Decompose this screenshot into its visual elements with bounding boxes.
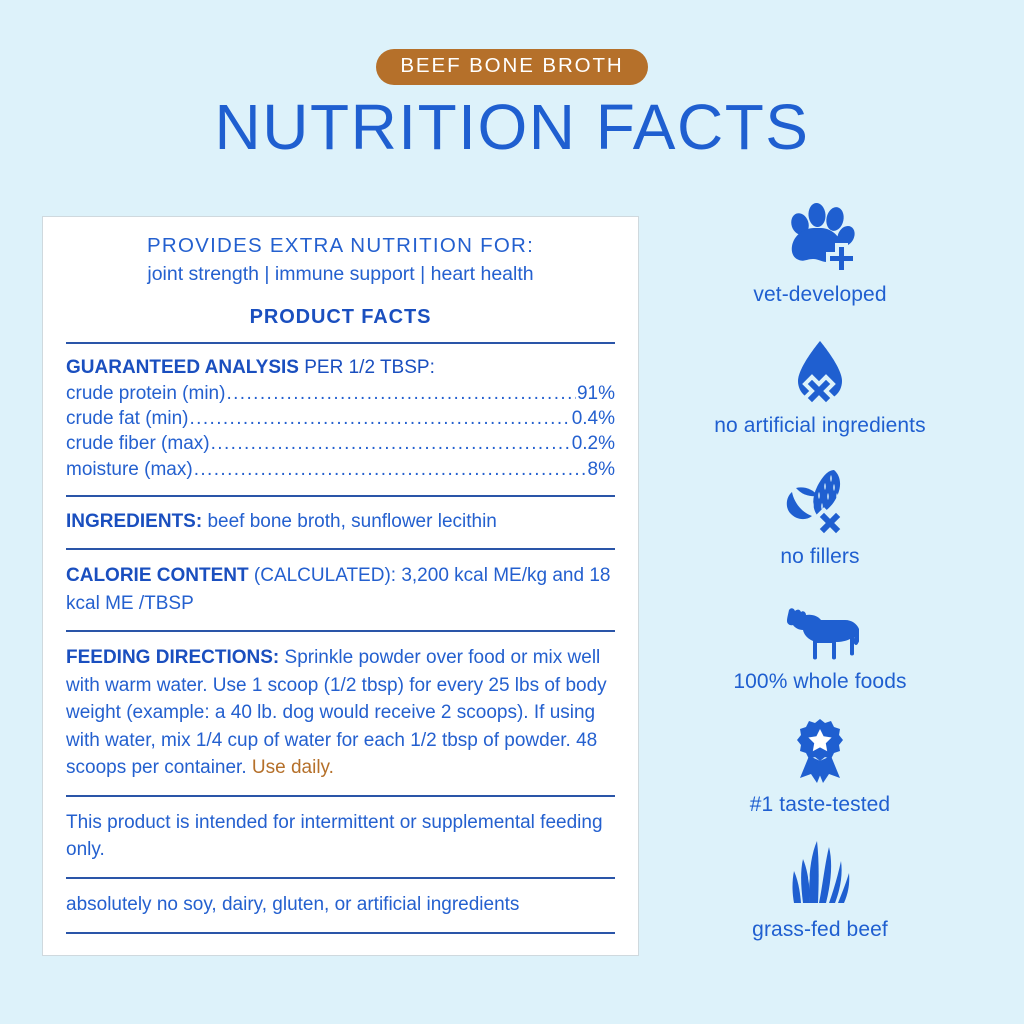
provides-heading: PROVIDES EXTRA NUTRITION FOR: [66, 234, 615, 258]
intermittent-notice-section: This product is intended for intermitten… [66, 809, 615, 864]
leader-dots: ........................................… [194, 457, 587, 482]
nutrition-facts-card: PROVIDES EXTRA NUTRITION FOR: joint stre… [42, 216, 639, 956]
ingredients-value: beef bone broth, sunflower lecithin [207, 511, 496, 532]
divider [66, 495, 615, 497]
benefit-no-fillers: no fillers [660, 462, 980, 569]
nutrient-name: crude fiber (max) [66, 431, 210, 456]
nutrient-name: crude protein (min) [66, 381, 225, 406]
guaranteed-analysis-list: crude protein (min) ....................… [66, 381, 615, 482]
table-row: moisture (max) .........................… [66, 457, 615, 482]
nutrient-name: crude fat (min) [66, 406, 188, 431]
guaranteed-analysis-label: GUARANTEED ANALYSIS [66, 357, 299, 378]
leader-dots: ........................................… [226, 381, 576, 406]
product-badge: BEEF BONE BROTH [376, 49, 647, 85]
award-ribbon-icon [660, 710, 980, 784]
use-daily-accent: Use daily. [252, 757, 334, 778]
guaranteed-analysis-serving: PER 1/2 TBSP: [304, 357, 435, 378]
benefit-label: 100% whole foods [660, 670, 980, 694]
table-row: crude fiber (max) ......................… [66, 431, 615, 456]
benefit-label: vet-developed [660, 283, 980, 307]
divider [66, 877, 615, 879]
leader-dots: ........................................… [189, 406, 570, 431]
product-badge-container: BEEF BONE BROTH [0, 49, 1024, 85]
divider [66, 932, 615, 934]
calorie-content-section: CALORIE CONTENT (CALCULATED): 3,200 kcal… [66, 562, 615, 617]
table-row: crude protein (min) ....................… [66, 381, 615, 406]
ingredients-section: INGREDIENTS: beef bone broth, sunflower … [66, 509, 615, 535]
page-title: NUTRITION FACTS [0, 94, 1024, 161]
nutrient-name: moisture (max) [66, 457, 193, 482]
benefits-column: vet-developed no artificial ingredients … [660, 200, 980, 942]
leader-dots: ........................................… [211, 431, 571, 456]
cow-icon [660, 587, 980, 661]
nutrient-value: 0.2% [572, 431, 615, 456]
divider [66, 342, 615, 344]
benefit-grass-fed-beef: grass-fed beef [660, 835, 980, 942]
guaranteed-analysis-heading: GUARANTEED ANALYSIS PER 1/2 TBSP: [66, 356, 615, 380]
paw-plus-icon [660, 200, 980, 274]
nutrient-value: 0.4% [572, 406, 615, 431]
nutrient-value: 8% [588, 457, 615, 482]
benefit-taste-tested: #1 taste-tested [660, 710, 980, 817]
feeding-directions-label: FEEDING DIRECTIONS: [66, 647, 279, 668]
product-facts-heading: PRODUCT FACTS [66, 306, 615, 329]
benefit-vet-developed: vet-developed [660, 200, 980, 307]
grass-icon [660, 835, 980, 909]
benefit-label: no artificial ingredients [660, 414, 980, 438]
table-row: crude fat (min) ........................… [66, 406, 615, 431]
ingredients-label: INGREDIENTS: [66, 511, 202, 532]
benefit-label: #1 taste-tested [660, 793, 980, 817]
guaranteed-analysis-section: GUARANTEED ANALYSIS PER 1/2 TBSP: crude … [66, 356, 615, 482]
benefit-whole-foods: 100% whole foods [660, 587, 980, 694]
divider [66, 795, 615, 797]
benefit-no-artificial-ingredients: no artificial ingredients [660, 331, 980, 438]
free-from-claim: absolutely no soy, dairy, gluten, or art… [66, 891, 615, 919]
intermittent-notice: This product is intended for intermitten… [66, 809, 615, 864]
nutrient-value: 91% [577, 381, 615, 406]
benefit-label: no fillers [660, 545, 980, 569]
provides-subline: joint strength | immune support | heart … [66, 263, 615, 286]
feeding-directions-section: FEEDING DIRECTIONS: Sprinkle powder over… [66, 644, 615, 782]
free-from-section: absolutely no soy, dairy, gluten, or art… [66, 891, 615, 919]
calorie-content-label: CALORIE CONTENT [66, 565, 249, 586]
corn-x-icon [660, 462, 980, 536]
droplet-x-icon [660, 331, 980, 405]
divider [66, 630, 615, 632]
divider [66, 548, 615, 550]
benefit-label: grass-fed beef [660, 918, 980, 942]
